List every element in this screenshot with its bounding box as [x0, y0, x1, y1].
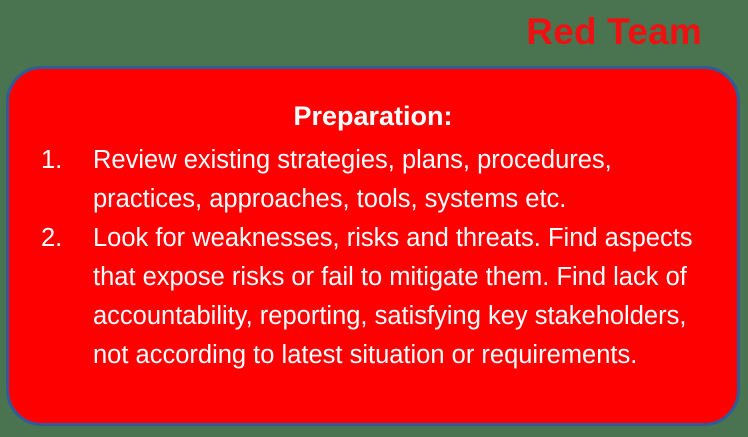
- list-item-number: 2.: [41, 219, 81, 258]
- list-item: 2. Look for weaknesses, risks and threat…: [9, 219, 711, 375]
- list-item-number: 1.: [41, 141, 81, 180]
- list-item-text: Look for weaknesses, risks and threats. …: [93, 219, 711, 375]
- content-box: Preparation: 1. Review existing strategi…: [6, 66, 740, 426]
- slide: Red Team Preparation: 1. Review existing…: [0, 0, 748, 437]
- box-heading: Preparation:: [9, 101, 737, 132]
- page-title: Red Team: [526, 12, 702, 53]
- steps-list: 1. Review existing strategies, plans, pr…: [9, 141, 711, 375]
- list-item: 1. Review existing strategies, plans, pr…: [9, 141, 711, 219]
- list-item-text: Review existing strategies, plans, proce…: [93, 141, 711, 219]
